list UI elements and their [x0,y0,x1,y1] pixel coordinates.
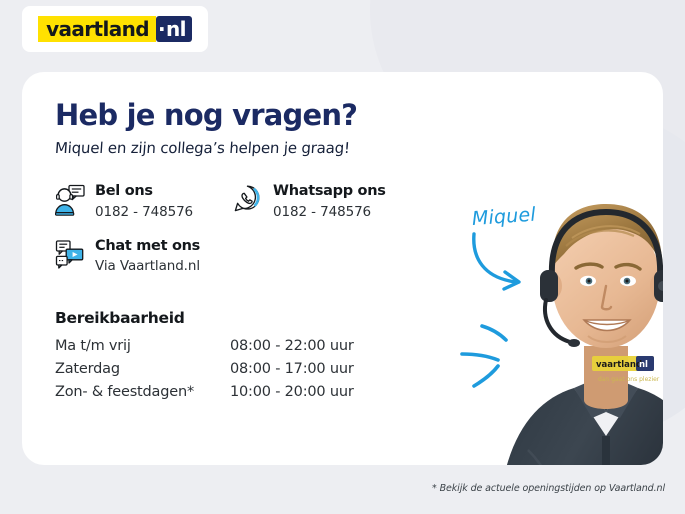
brand-logo[interactable]: vaartland · nl [22,6,208,52]
contact-value-whatsapp[interactable]: 0182 - 748576 [273,204,386,220]
page-title: Heb je nog vragen? [55,100,455,130]
contact-value-chat[interactable]: Via Vaartland.nl [95,258,200,274]
logo-dot: · [158,19,166,39]
curved-arrow-icon [462,230,552,296]
headset-person-icon [55,184,85,216]
content-card: Heb je nog vragen? Miquel en zijn colleg… [22,72,663,465]
contact-grid-spacer [233,238,455,275]
whatsapp-icon [233,184,263,216]
contact-item-phone[interactable]: Bel ons 0182 - 748576 [55,183,233,220]
hours-time: 08:00 - 17:00 uur [230,361,455,377]
page-subtitle: Miquel en zijn collega’s helpen je graag… [54,139,455,157]
svg-text:dan gaat ons plezier: dan gaat ons plezier [598,376,660,383]
logo-lockup: vaartland · nl [38,16,192,42]
svg-text:vaartland: vaartland [596,360,642,370]
speed-lines-decoration [460,312,540,394]
hours-day: Zon- & feestdagen* [55,384,230,400]
contact-item-chat[interactable]: Chat met ons Via Vaartland.nl [55,238,233,275]
footnote-text: * Bekijk de actuele openingstijden op Va… [0,483,665,494]
chat-bubbles-icon [55,239,85,271]
card-content: Heb je nog vragen? Miquel en zijn colleg… [55,100,455,400]
contact-title-whatsapp: Whatsapp ons [273,183,386,200]
contact-value-phone[interactable]: 0182 - 748576 [95,204,193,220]
hours-time: 08:00 - 22:00 uur [230,338,455,354]
contact-text-phone: Bel ons 0182 - 748576 [95,183,193,220]
hours-day: Zaterdag [55,361,230,377]
hours-time: 10:00 - 20:00 uur [230,384,455,400]
logo-tld: nl [166,19,186,39]
logo-tld-box: · nl [156,16,192,42]
contact-methods: Bel ons 0182 - 748576 Whatsapp on [55,183,455,274]
contact-item-whatsapp[interactable]: Whatsapp ons 0182 - 748576 [233,183,455,220]
contact-title-chat: Chat met ons [95,238,200,255]
hours-day: Ma t/m vrij [55,338,230,354]
contact-title-phone: Bel ons [95,183,193,200]
contact-text-chat: Chat met ons Via Vaartland.nl [95,238,200,275]
hours-heading: Bereikbaarheid [55,309,455,327]
agent-photo: vaartland nl dan gaat ons plezier [488,150,663,465]
contact-text-whatsapp: Whatsapp ons 0182 - 748576 [273,183,386,220]
logo-wordmark: vaartland [46,19,149,39]
promo-banner: vaartland · nl Heb je nog vragen? Miquel… [0,0,685,514]
agent-name-annotation: Miquel [471,204,536,230]
logo-wordmark-box: vaartland [38,16,156,42]
svg-text:nl: nl [639,360,648,370]
hours-table: Ma t/m vrij 08:00 - 22:00 uur Zaterdag 0… [55,338,455,400]
